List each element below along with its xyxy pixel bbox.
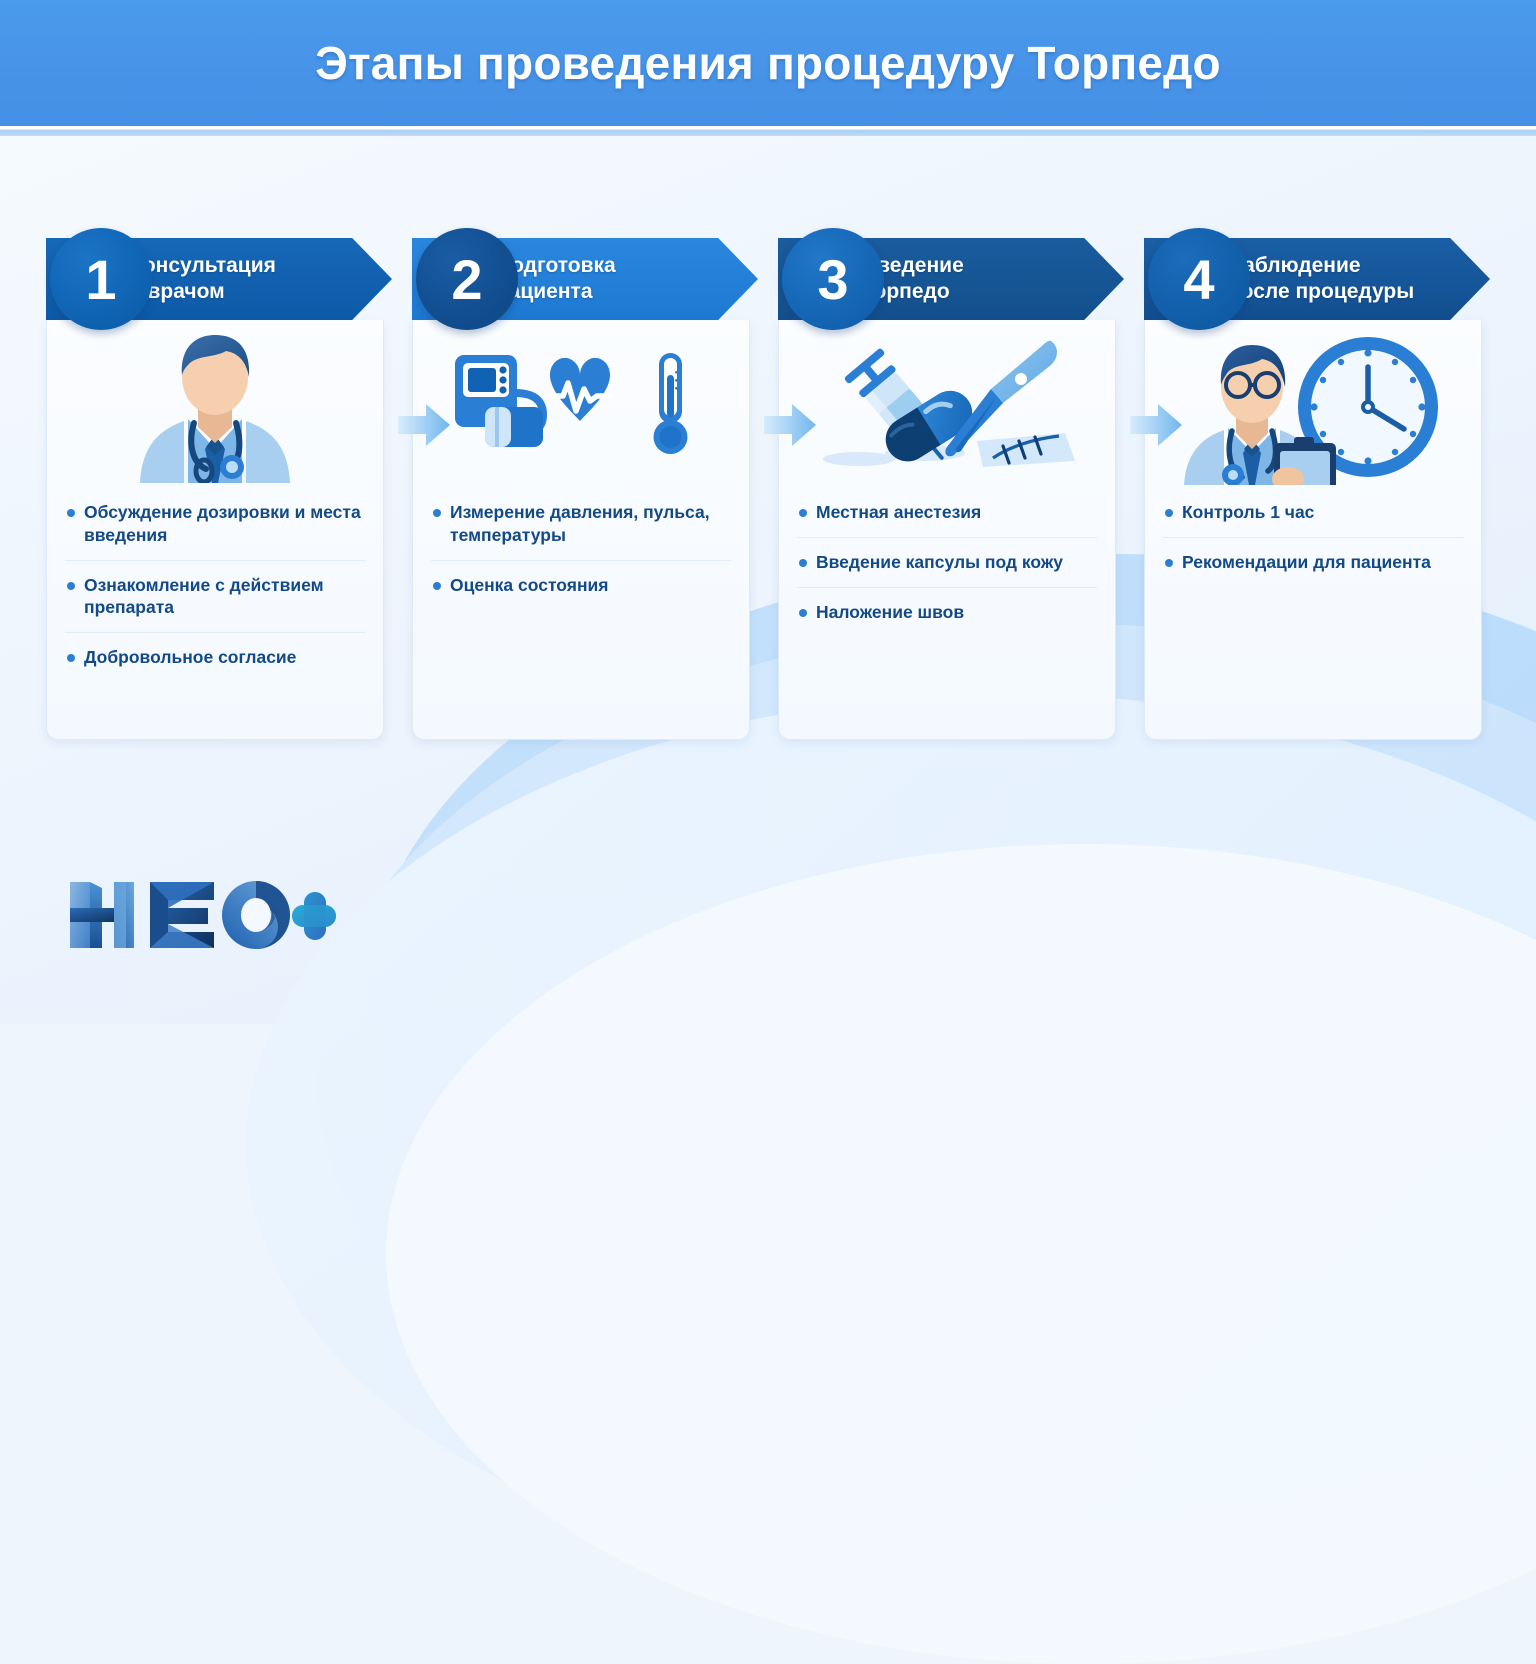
step-bullets-3: Местная анестезия Введение капсулы под к… [779, 488, 1115, 636]
vitals-monitor-heart-thermometer-icon [413, 320, 749, 488]
step-body-3: Местная анестезия Введение капсулы под к… [778, 320, 1116, 740]
bullet-dot-icon [433, 509, 441, 517]
list-item: Наложение швов [797, 588, 1097, 637]
step-title-4: Наблюдение после процедуры [1228, 253, 1414, 306]
bullet-dot-icon [67, 582, 75, 590]
logo-letter-e [150, 882, 214, 948]
step-body-1: Обсуждение дозировки и места введения Оз… [46, 320, 384, 740]
bullet-dot-icon [1165, 559, 1173, 567]
list-item: Оценка состояния [431, 561, 731, 610]
list-item: Введение капсулы под кожу [797, 538, 1097, 588]
list-item: Рекомендации для пациента [1163, 538, 1463, 587]
sutures-icon [977, 433, 1075, 467]
step-body-4: Контроль 1 час Рекомендации для пациента [1144, 320, 1482, 740]
bullet-dot-icon [799, 609, 807, 617]
brand-logo [68, 878, 336, 952]
bullet-dot-icon [433, 582, 441, 590]
bullet-dot-icon [67, 654, 75, 662]
list-item: Местная анестезия [797, 488, 1097, 538]
list-item: Добровольное согласие [65, 633, 365, 682]
logo-plus-sign [292, 892, 336, 940]
bullet-dot-icon [67, 509, 75, 517]
steps-row: Консультация с врачом 1 [46, 228, 1490, 740]
step-card-3[interactable]: Введение Торпедо 3 [778, 228, 1116, 740]
list-item: Ознакомление с действием препарата [65, 561, 365, 634]
arrow-step-3-to-4 [1130, 404, 1182, 446]
step-number-badge-3: 3 [782, 228, 884, 330]
step-number-badge-4: 4 [1148, 228, 1250, 330]
heart-pulse-icon [550, 358, 610, 421]
doctor-stethoscope-icon [47, 320, 383, 488]
logo-letter-n [70, 882, 134, 948]
step-card-1[interactable]: Консультация с врачом 1 [46, 228, 384, 740]
list-item: Измерение давления, пульса, температуры [431, 488, 731, 561]
neo-plus-logo-icon [68, 878, 336, 952]
blood-pressure-monitor-icon [455, 355, 543, 447]
arrow-step-2-to-3 [764, 404, 816, 446]
page-title: Этапы проведения процедуру Торпедо [315, 36, 1221, 90]
step-bullets-2: Измерение давления, пульса, температуры … [413, 488, 749, 609]
syringe-capsule-scalpel-sutures-icon [779, 320, 1115, 488]
step-card-4[interactable]: Наблюдение после процедуры 4 [1144, 228, 1482, 740]
step-bullets-1: Обсуждение дозировки и места введения Оз… [47, 488, 383, 682]
logo-letter-o [222, 881, 290, 949]
thermometer-icon [654, 353, 688, 454]
header-bar: Этапы проведения процедуру Торпедо [0, 0, 1536, 126]
bullet-dot-icon [799, 559, 807, 567]
bullet-dot-icon [1165, 509, 1173, 517]
step-number-badge-1: 1 [50, 228, 152, 330]
doctor-clipboard-clock-icon [1145, 320, 1481, 488]
step-card-2[interactable]: Подготовка пациента 2 [412, 228, 750, 740]
step-bullets-4: Контроль 1 час Рекомендации для пациента [1145, 488, 1481, 587]
arrow-step-1-to-2 [398, 404, 450, 446]
step-body-2: Измерение давления, пульса, температуры … [412, 320, 750, 740]
bullet-dot-icon [799, 509, 807, 517]
list-item: Контроль 1 час [1163, 488, 1463, 538]
step-number-badge-2: 2 [416, 228, 518, 330]
header-divider-rule [0, 126, 1536, 136]
list-item: Обсуждение дозировки и места введения [65, 488, 365, 561]
